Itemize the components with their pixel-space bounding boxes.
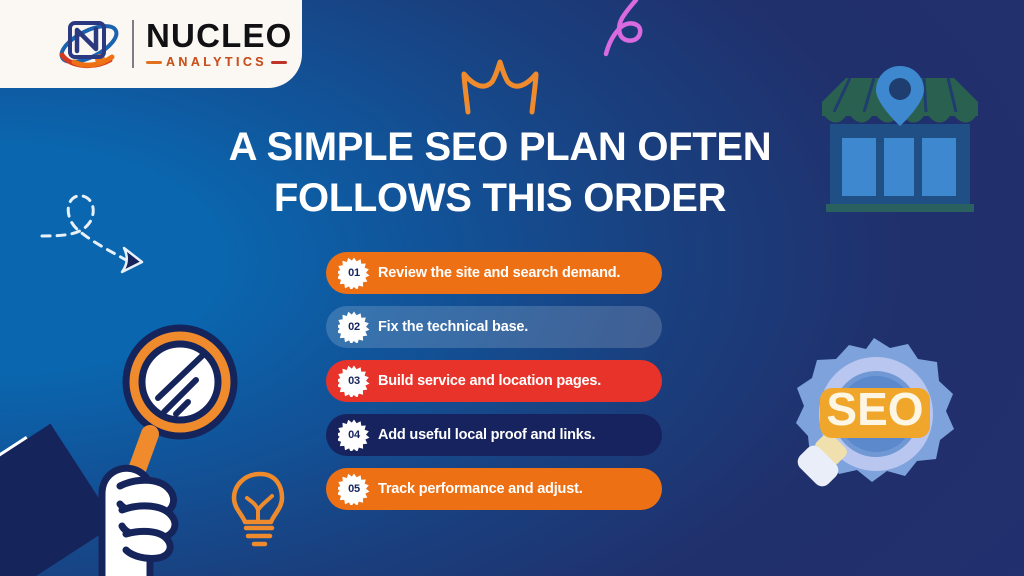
step-label-05: Track performance and adjust. (378, 481, 583, 497)
step-label-03: Build service and location pages. (378, 373, 601, 389)
seo-badge-text: SEO (826, 383, 923, 435)
step-label-04: Add useful local proof and links. (378, 427, 595, 443)
brand-logo-card: NUCLEO ANALYTICS (0, 0, 302, 88)
step-list: 01 Review the site and search demand. 02… (326, 252, 662, 510)
nucleo-n-orbit-logo-icon (56, 15, 126, 73)
logo-divider (132, 20, 134, 68)
crown-doodle-icon (452, 56, 548, 120)
step-number-01: 01 (348, 267, 360, 279)
step-badge-icon-03: 03 (338, 365, 370, 397)
brand-name: NUCLEO (146, 19, 293, 52)
page-title-line2: FOLLOWS THIS ORDER (180, 173, 820, 224)
tagline-rule-right (271, 61, 287, 64)
step-number-02: 02 (348, 321, 360, 333)
page-title-line1: A SIMPLE SEO PLAN OFTEN (180, 122, 820, 173)
step-badge-icon-01: 01 (338, 257, 370, 289)
hand-holding-magnifier-icon (92, 318, 282, 576)
seo-magnifier-badge-icon: SEO (784, 332, 964, 504)
step-item-05[interactable]: 05 Track performance and adjust. (326, 468, 662, 510)
step-item-02[interactable]: 02 Fix the technical base. (326, 306, 662, 348)
step-badge-icon-02: 02 (338, 311, 370, 343)
dashed-loop-arrow-icon (38, 178, 170, 290)
step-item-04[interactable]: 04 Add useful local proof and links. (326, 414, 662, 456)
infographic-canvas: NUCLEO ANALYTICS A SIMPLE SEO PLAN OFTEN… (0, 0, 1024, 576)
page-title: A SIMPLE SEO PLAN OFTEN FOLLOWS THIS ORD… (180, 122, 820, 224)
step-number-05: 05 (348, 483, 360, 495)
tagline-rule-left (146, 61, 162, 64)
step-label-01: Review the site and search demand. (378, 265, 620, 281)
step-item-01[interactable]: 01 Review the site and search demand. (326, 252, 662, 294)
step-badge-icon-04: 04 (338, 419, 370, 451)
local-store-pin-icon (812, 64, 988, 216)
step-label-02: Fix the technical base. (378, 319, 528, 335)
step-number-04: 04 (348, 429, 360, 441)
step-number-03: 03 (348, 375, 360, 387)
step-badge-icon-05: 05 (338, 473, 370, 505)
pink-curl-squiggle-icon (596, 0, 668, 58)
step-item-03[interactable]: 03 Build service and location pages. (326, 360, 662, 402)
brand-wordmark: NUCLEO ANALYTICS (146, 19, 293, 69)
brand-tagline: ANALYTICS (166, 56, 267, 69)
